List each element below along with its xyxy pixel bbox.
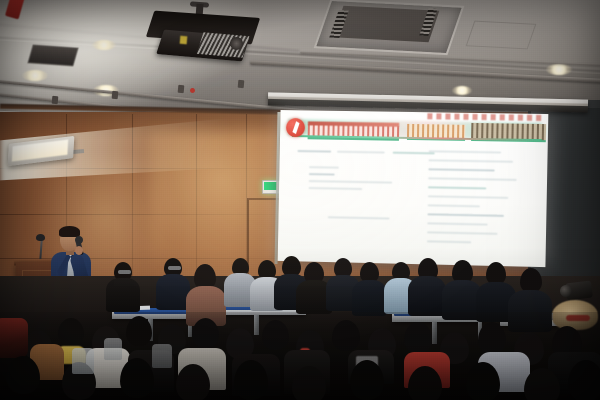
speaker-hand	[75, 246, 83, 255]
audience-head	[6, 356, 40, 394]
audience-head	[478, 322, 506, 354]
audience-head	[176, 364, 210, 400]
slide-text-line	[309, 180, 392, 184]
student-body	[352, 280, 387, 316]
chair-back	[72, 348, 94, 374]
slide-text-line	[427, 213, 503, 217]
video-camera-lens	[560, 285, 572, 297]
downlight-icon	[92, 40, 116, 50]
student-body	[156, 274, 190, 310]
slide-text-line	[328, 216, 390, 219]
lecture-hall-photograph: illegible at this resolution	[0, 0, 600, 400]
chair-back	[152, 344, 172, 368]
student-body	[408, 276, 446, 316]
slide-text-line	[428, 195, 508, 199]
student-eyeglasses	[168, 266, 181, 270]
audience-head	[120, 358, 154, 398]
track-indicator-light	[190, 88, 195, 93]
track-light-head	[112, 91, 119, 99]
slide-text-line	[428, 177, 517, 181]
slide-text-line	[427, 231, 497, 235]
slide-text-line	[309, 166, 339, 169]
slide-text-line	[309, 173, 335, 175]
audience-head	[568, 360, 600, 400]
audience-head	[332, 320, 360, 351]
red-patterned-jacket	[0, 318, 28, 358]
audience-head	[126, 316, 152, 346]
chair-back	[104, 338, 122, 360]
vent-icon	[27, 45, 78, 67]
slide-text-line	[337, 151, 385, 154]
downlight-icon	[546, 64, 572, 75]
downlight-icon	[22, 70, 48, 81]
audience-head	[466, 362, 500, 400]
track-light-head	[178, 85, 185, 93]
track-light-head	[238, 80, 245, 88]
slide-text-line	[309, 187, 363, 190]
audience-head	[262, 320, 289, 350]
slide-text-line	[428, 186, 486, 189]
track-light-head	[52, 96, 59, 104]
audience-head	[350, 360, 384, 400]
handheld-microphone-head	[75, 236, 83, 244]
slide-text-line	[428, 168, 494, 171]
student-eyeglasses	[118, 270, 131, 274]
audience-head	[192, 318, 219, 348]
audience-head	[404, 322, 432, 353]
student-body	[106, 278, 140, 312]
slide-text-line	[427, 240, 471, 243]
slide-text-line	[429, 159, 514, 162]
audience-head	[234, 360, 268, 400]
slide-text-line	[297, 150, 331, 153]
podium-microphone-head	[36, 234, 45, 241]
audience-head	[58, 318, 84, 346]
projector-cable	[180, 36, 188, 45]
downlight-icon	[452, 86, 472, 95]
projection-screen: illegible at this resolution	[278, 110, 549, 267]
ceiling-access-hatch	[466, 21, 537, 50]
slide-text-line	[429, 150, 501, 153]
slide-text-line	[428, 204, 480, 207]
slide-text-line	[427, 222, 487, 225]
